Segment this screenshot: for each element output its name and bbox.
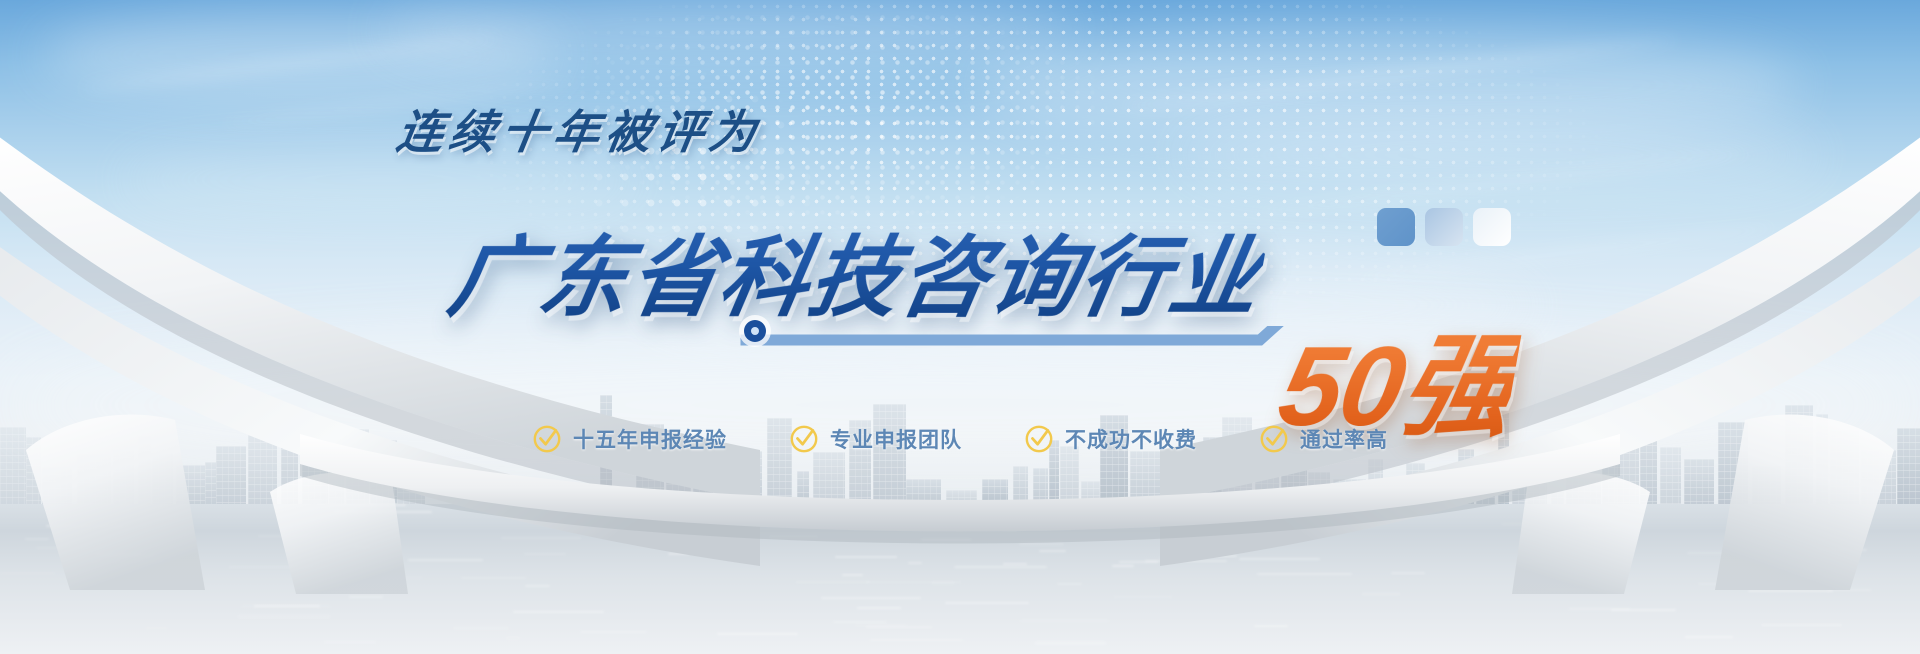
water-glint [46,525,123,527]
check-circle-icon [532,424,562,454]
feature-badge-label: 十五年申报经验 [573,424,727,454]
halftone-dots-pattern [420,0,1600,340]
building [797,471,809,508]
feature-badge-list: 十五年申报经验专业申报团队不成功不收费通过率高 [0,424,1920,454]
building [1308,472,1330,508]
water-glint [1019,543,1064,545]
building [329,455,344,508]
water-glint [1611,609,1676,611]
building [1861,450,1896,508]
cloud-streak [1351,224,1779,282]
water-glint [90,561,165,563]
water-glint [1761,624,1842,626]
water-glint [1112,565,1134,567]
water-glint [1814,549,1867,551]
water-glint [835,556,897,558]
building [113,450,134,508]
building [205,462,216,508]
water-glint [1020,620,1109,622]
water-glint [0,572,55,574]
building [1458,449,1474,508]
water-glint [229,566,329,568]
water-glint [1114,596,1172,598]
water-glint [25,538,49,540]
water-glint [1177,517,1198,519]
cloud-streak [81,34,499,92]
bokeh-dots-pattern [560,60,900,320]
building [873,404,906,508]
water-glint [349,596,383,598]
water-glint [1254,625,1288,627]
water-glint [854,624,907,626]
cloud-streak [221,78,579,127]
building [1785,405,1813,508]
cloud-streak [1122,36,1679,112]
waterfront-reflection [0,504,1920,654]
water-glint [513,611,604,613]
decor-blocks [1377,208,1511,246]
water-glint [453,627,509,629]
halftone-dots-pattern [560,10,1180,260]
water-glint [1251,525,1325,527]
water-glint [501,537,581,539]
water-glint [1003,563,1027,565]
water-glint [1053,507,1096,509]
water-glint [1249,514,1307,516]
eyebrow-text: 连续十年被评为 [393,96,767,162]
building [693,450,713,508]
building [152,453,173,508]
water-glint [1827,589,1871,591]
feature-badge: 通过率高 [1259,424,1388,454]
water-glint [908,562,922,564]
water-glint [320,509,341,511]
water-glint [796,581,870,583]
water-glint [1159,557,1180,559]
building [1130,451,1165,508]
check-circle-icon [1024,424,1054,454]
water-glint [769,535,818,537]
cloud-wisp [380,0,1080,70]
building [1512,466,1527,508]
cloud-haze [0,330,1920,480]
building [1406,463,1425,508]
building [1255,455,1279,508]
water-glint [628,507,647,509]
water-glint [98,555,154,557]
water-glint [506,637,520,639]
building [1476,469,1495,508]
water-glint [1197,555,1237,557]
water-glint [866,626,932,628]
cloud-streak [1251,150,1748,217]
water-glint [836,514,937,516]
water-glint [323,641,377,643]
water-glint [580,631,647,633]
connector-node-icon [744,320,766,342]
water-glint [1057,583,1082,585]
water-glint [1391,572,1425,574]
water-glint [1145,560,1227,562]
water-glint [879,525,936,527]
building [1752,466,1781,508]
arrow-line-icon [740,326,1380,421]
water-glint [1524,561,1545,563]
water-glint [954,566,1047,568]
water-glint [821,597,921,599]
water-glint [380,577,422,579]
block-solid-blue [1377,208,1415,246]
cloud-wisp [980,30,1800,140]
water-glint [1698,583,1719,585]
building [1368,459,1383,508]
water-glint [857,607,901,609]
water-glint [36,547,105,549]
page-title: 广东省科技咨询行业 [441,207,1273,334]
building [216,446,246,508]
cloud-wisp [120,150,640,210]
promo-banner: 连续十年被评为 广东省科技咨询行业 50强 十五年申报经验专业申报团队不成功不收… [0,0,1920,654]
water-glint [1687,552,1723,554]
water-glint [1577,528,1621,530]
water-glint [96,553,141,555]
building [176,465,205,508]
water-glint [146,627,167,629]
water-glint [525,585,550,587]
water-glint [1823,576,1840,578]
building [1165,466,1198,508]
water-glint [354,546,370,548]
building [1660,447,1681,508]
building [1013,466,1028,508]
water-glint [1362,593,1400,595]
block-mid-blue [1425,208,1463,246]
water-glint [237,615,331,617]
water-glint [408,559,483,561]
check-circle-icon [1259,424,1289,454]
water-glint [833,621,887,623]
water-glint [1039,550,1066,552]
building [1684,459,1714,508]
water-glint [258,535,312,537]
feature-badge: 专业申报团队 [789,424,962,454]
water-glint [1748,590,1833,592]
building [302,457,328,508]
building [717,456,742,508]
check-circle-icon [789,424,819,454]
water-glint [938,511,977,513]
water-glint [1685,636,1733,638]
building [1033,468,1048,508]
building [1060,446,1079,508]
water-glint [254,605,320,607]
water-glint [1035,642,1106,644]
water-glint [461,577,526,579]
water-glint [334,511,432,513]
building [813,452,845,508]
feature-badge-label: 通过率高 [1300,424,1388,454]
water-glint [866,581,961,583]
water-glint [668,553,689,555]
water-glint [717,633,798,635]
water-glint [1257,573,1352,575]
block-white [1473,208,1511,246]
water-glint [842,574,863,576]
water-glint [524,553,566,555]
building [42,467,72,508]
water-glint [317,504,406,506]
feature-badge-label: 专业申报团队 [830,424,962,454]
building [77,454,111,508]
water-glint [945,602,1029,604]
water-glint [1239,558,1320,560]
feature-badge: 十五年申报经验 [532,424,727,454]
water-glint [921,539,971,541]
building [744,451,762,508]
water-glint [870,639,963,641]
feature-badge-label: 不成功不收费 [1065,424,1197,454]
water-glint [1502,523,1530,525]
water-glint [1131,524,1206,526]
water-glint [1547,589,1609,591]
feature-badge: 不成功不收费 [1024,424,1197,454]
